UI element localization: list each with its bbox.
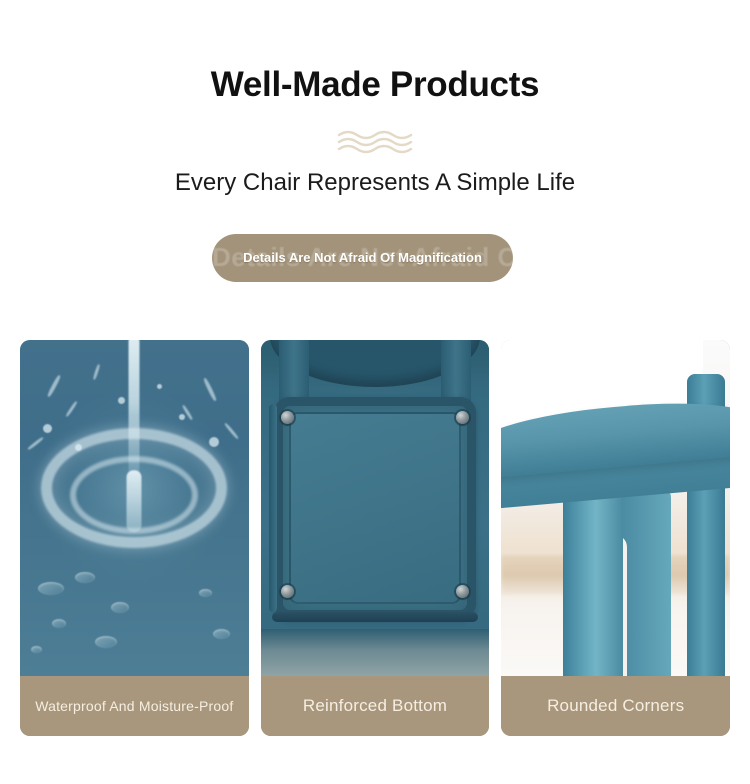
surface-droplet <box>75 572 95 583</box>
feature-card-row: Waterproof And Moisture-Proof <box>20 340 730 736</box>
splash-center-column <box>127 470 142 532</box>
screw-icon <box>281 411 294 424</box>
water-streak <box>224 422 239 439</box>
water-droplet <box>157 384 162 389</box>
water-streak <box>47 374 62 397</box>
water-streak <box>66 401 79 418</box>
surface-droplet <box>38 582 64 595</box>
rounded-corners-caption-bar: Rounded Corners <box>501 676 730 736</box>
rounded-corners-photo <box>501 340 730 676</box>
water-splash-image <box>20 340 249 676</box>
chair-leg-closeup-image <box>501 340 730 676</box>
screw-icon <box>456 411 469 424</box>
page-subtitle: Every Chair Represents A Simple Life <box>0 168 750 198</box>
surface-droplet <box>111 602 129 613</box>
wavy-divider-icon <box>335 128 415 156</box>
waterproof-photo <box>20 340 249 676</box>
water-streak <box>203 377 218 401</box>
water-streak <box>93 363 101 379</box>
feature-card-rounded-corners[interactable]: Rounded Corners <box>501 340 730 736</box>
water-droplet <box>118 397 125 404</box>
frame-inner-panel <box>289 412 461 604</box>
screw-icon <box>456 585 469 598</box>
page-title: Well-Made Products <box>0 64 750 106</box>
chair-foot-plate <box>261 629 490 676</box>
banner-label: Details Are Not Afraid Of Magnification <box>212 250 513 266</box>
frame-horizontal-bar <box>272 612 478 622</box>
frame-vertical-bar <box>269 404 277 612</box>
feature-card-waterproof[interactable]: Waterproof And Moisture-Proof <box>20 340 249 736</box>
water-droplet <box>209 437 219 447</box>
magnification-banner: Details Are Not Afraid Of Magnification … <box>212 234 513 282</box>
reinforced-bottom-photo <box>261 340 490 676</box>
reinforcement-frame <box>274 397 475 619</box>
water-streak <box>27 437 44 451</box>
reinforced-bottom-caption-bar: Reinforced Bottom <box>261 676 490 736</box>
card-caption: Waterproof And Moisture-Proof <box>35 698 233 715</box>
chair-leg-brace <box>620 484 670 676</box>
surface-droplet <box>199 589 212 597</box>
surface-droplet <box>213 629 230 639</box>
water-droplet <box>75 444 82 451</box>
feature-card-reinforced-bottom[interactable]: Reinforced Bottom <box>261 340 490 736</box>
surface-droplet <box>31 646 42 653</box>
water-droplet <box>179 414 185 420</box>
card-caption: Rounded Corners <box>547 696 684 716</box>
surface-droplet <box>52 619 66 628</box>
product-feature-page: Well-Made Products Every Chair Represent… <box>0 0 750 784</box>
card-caption: Reinforced Bottom <box>303 696 447 716</box>
waterproof-caption-bar: Waterproof And Moisture-Proof <box>20 676 249 736</box>
water-droplet <box>43 424 52 433</box>
chair-underside-image <box>261 340 490 676</box>
surface-droplet <box>95 636 117 648</box>
